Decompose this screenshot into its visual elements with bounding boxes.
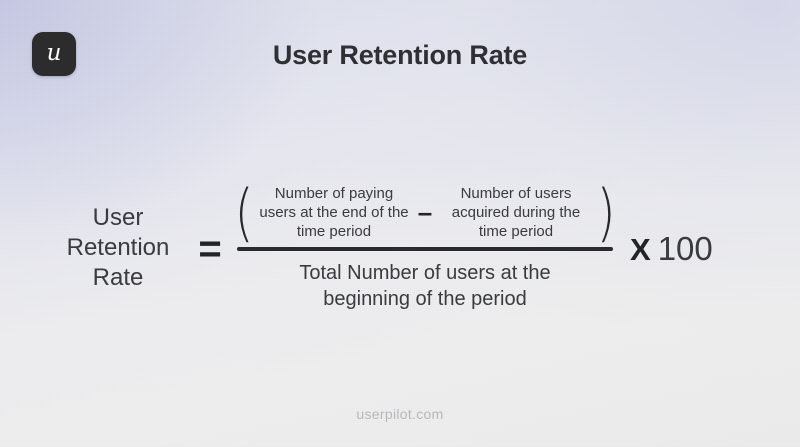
fraction-block: ( Number of paying users at the end of t…	[236, 185, 614, 312]
formula-label-line-1: User	[52, 203, 184, 233]
formula-label-line-3: Rate	[52, 263, 184, 293]
multiplier-block: X100	[614, 232, 748, 265]
footer-website: userpilot.com	[0, 406, 800, 422]
fraction-denominator: Total Number of users at the beginning o…	[255, 251, 595, 312]
minus-sign: –	[410, 199, 440, 225]
fraction-numerator: ( Number of paying users at the end of t…	[232, 185, 618, 247]
formula-label-line-2: Retention	[52, 233, 184, 263]
open-parenthesis: (	[234, 191, 253, 236]
formula-container: User Retention Rate = ( Number of paying…	[0, 185, 800, 312]
multiply-sign: X	[630, 232, 651, 267]
page-title: User Retention Rate	[0, 40, 800, 71]
close-parenthesis: )	[597, 191, 616, 236]
formula-left-label: User Retention Rate	[52, 203, 184, 294]
equals-sign: =	[184, 229, 236, 269]
multiply-value: 100	[658, 230, 713, 267]
infographic-canvas: u User Retention Rate User Retention Rat…	[0, 0, 800, 447]
numerator-term-paying-users: Number of paying users at the end of the…	[258, 185, 410, 242]
numerator-term-acquired-users: Number of users acquired during the time…	[440, 185, 592, 242]
